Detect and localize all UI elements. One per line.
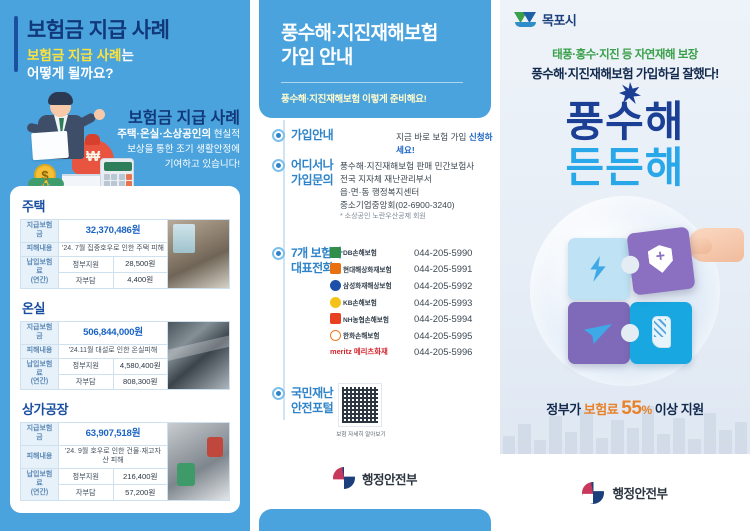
case-heading-shop-factory: 상가공장 (22, 399, 230, 418)
samsung-logo-icon (330, 280, 341, 291)
insurer-logo: 한화손해보험 (330, 330, 402, 341)
puzzle-piece-shield (626, 226, 695, 295)
label-premium: 납입보험료 (연간) (21, 256, 59, 288)
left-panel: 보험금 지급 사례 보험금 지급 사례는 어떻게 될까요? ₩ $ 보험금 지급 (0, 0, 250, 531)
payout-cases-card: 주택 지급보험금 32,370,486원 피해내용 '24. 7월 집중호우로 … (10, 186, 240, 513)
left-panel-desc-line-2: 보상을 통한 조기 생활안정에 (127, 141, 240, 155)
insurer-name: KB손해보험 (343, 297, 377, 307)
rain-boot-icon (652, 316, 671, 348)
puzzle-piece-boot (630, 302, 692, 364)
table-row: 지급보험금 32,370,486원 (21, 220, 168, 243)
nh-logo-icon (330, 313, 341, 324)
bullet-icon (272, 387, 285, 400)
list-item[interactable]: meritz 메리츠화재 044-205-5996 (330, 344, 472, 361)
insurer-name: NH농협손해보험 (343, 314, 389, 324)
label-premium-main: 납입보험료 (27, 471, 53, 487)
hanwha-logo-icon (330, 330, 341, 341)
value-gov-support: 216,400원 (113, 469, 168, 485)
case-block-greenhouse: 지급보험금 506,844,000원 피해내용 '24.11월 대설로 인한 온… (20, 321, 230, 391)
left-panel-title: 보험금 지급 사례 (27, 14, 169, 44)
kb-logo-icon (330, 297, 341, 308)
value-payout: 32,370,486원 (59, 220, 168, 243)
label-premium-sub: (연간) (31, 489, 49, 496)
title-line-1: 풍수해·지진재해보험 (281, 23, 438, 44)
hair (48, 92, 73, 105)
label-line-2: 안전포털 (291, 401, 333, 415)
label-line-1: 국민재난 (291, 386, 333, 400)
insurer-logo: KB손해보험 (330, 297, 402, 308)
middle-panel-header: 풍수해·지진재해보험 가입 안내 풍수해·지진재해보험 이렇게 준비해요! (259, 0, 491, 118)
hyundai-logo-icon (330, 263, 341, 274)
value-payout: 506,844,000원 (59, 321, 168, 344)
header-divider (281, 82, 463, 83)
insurer-name: DB손해보험 (343, 247, 377, 257)
value-gov-support: 28,500원 (113, 256, 168, 272)
value-damage: '24. 7월 집중호우로 인한 주택 피해 (59, 242, 168, 256)
list-item[interactable]: 현대해상화재보험 044-205-5991 (330, 261, 472, 278)
label-payout: 지급보험금 (21, 423, 59, 446)
insurer-name: meritz 메리츠화재 (330, 346, 388, 357)
label-line-2: 가입문의 (291, 173, 333, 187)
value-self-pay: 4,400원 (113, 272, 168, 288)
label-line-2: 대표전화 (291, 261, 333, 275)
qr-pattern (342, 387, 378, 423)
damage-photo-house (168, 219, 230, 289)
insurer-logo: 삼성화재해상보험 (330, 280, 402, 291)
mokpo-emblem-icon (514, 12, 537, 27)
label-gov-support: 정부지원 (59, 358, 114, 374)
table-row: 납입보험료 (연간) 정부지원 28,500원 (21, 256, 168, 272)
insurer-logo: 현대해상화재보험 (330, 263, 402, 274)
support-prefix: 정부가 (546, 402, 584, 417)
taegeuk-icon (333, 467, 355, 489)
insurer-logo: meritz 메리츠화재 (330, 346, 402, 357)
value-self-pay: 808,300원 (113, 374, 168, 390)
taegeuk-icon (582, 482, 604, 504)
insurer-logo: NH농협손해보험 (330, 313, 402, 324)
label-self-pay: 자부담 (59, 485, 114, 501)
value-self-pay: 57,200원 (113, 485, 168, 501)
label-premium-main: 납입보험료 (27, 259, 53, 275)
bullet-icon (272, 159, 285, 172)
insurer-phone[interactable]: 044-205-5996 (414, 346, 472, 357)
support-suffix: 이상 지원 (652, 402, 704, 417)
label-damage: 피해내용 (21, 446, 59, 469)
section-where-body: 풍수해·지진재해보험 판매 민간보험사 전국 지자체 재난관리부서 읍·면·동 … (340, 160, 500, 223)
label-damage: 피해내용 (21, 242, 59, 256)
table-row: 지급보험금 63,907,518원 (21, 423, 168, 446)
label-line-1: 어디서나 (291, 158, 333, 172)
support-premium-label: 보험료 (584, 402, 622, 417)
value-payout: 63,907,518원 (59, 423, 168, 446)
list-item[interactable]: 삼성화재해상보험 044-205-5992 (330, 277, 472, 294)
label-self-pay: 자부담 (59, 374, 114, 390)
value-damage: '24. 9월 호우로 인한 건물·재고자산 피해 (59, 446, 168, 469)
apply-note: * 소상공인 노란우산공제 회원 (340, 212, 500, 223)
won-symbol-icon: ₩ (86, 148, 100, 165)
label-premium-main: 납입보험료 (27, 361, 53, 377)
label-payout: 지급보험금 (21, 321, 59, 344)
section-signup-guide: 가입안내 (272, 128, 333, 143)
insurer-phone[interactable]: 044-205-5995 (414, 330, 472, 341)
damage-photo-shop-factory (168, 422, 230, 501)
case-block-shop-factory: 지급보험금 63,907,518원 피해내용 '24. 9월 호우로 인한 건물… (20, 422, 230, 501)
db-logo-icon (330, 247, 341, 258)
left-panel-subtitle-1: 보험금 지급 사례는 (27, 44, 134, 64)
subtitle-tail: 는 (121, 48, 133, 63)
table-row: 납입보험료 (연간) 정부지원 216,400원 (21, 469, 168, 485)
support-percent-sign: % (641, 403, 651, 417)
section-where-to-apply: 어디서나 가입문의 (272, 158, 333, 188)
title-accent-bar (14, 16, 18, 72)
list-item[interactable]: NH농협손해보험 044-205-5994 (330, 310, 472, 327)
label-gov-support: 정부지원 (59, 256, 114, 272)
list-item[interactable]: 한화손해보험 044-205-5995 (330, 327, 472, 344)
label-payout: 지급보험금 (21, 220, 59, 243)
city-logo: 목포시 (514, 10, 576, 29)
label-damage: 피해내용 (21, 344, 59, 358)
table-row: 지급보험금 506,844,000원 (21, 321, 168, 344)
insurer-list: DB손해보험 044-205-5990 현대해상화재보험 044-205-599… (330, 244, 472, 360)
table-row: 피해내용 '24.11월 대설로 인한 온실피해 (21, 344, 168, 358)
calculator-screen (104, 162, 132, 171)
table-row: 피해내용 '24. 9월 호우로 인한 건물·재고자산 피해 (21, 446, 168, 469)
table-row: 납입보험료 (연간) 정부지원 4,580,400원 (21, 358, 168, 374)
table-row: 피해내용 '24. 7월 집중호우로 인한 주택 피해 (21, 242, 168, 256)
paper-plane-icon (584, 324, 612, 344)
case-block-house: 지급보험금 32,370,486원 피해내용 '24. 7월 집중호우로 인한 … (20, 219, 230, 289)
case-table-house: 지급보험금 32,370,486원 피해내용 '24. 7월 집중호우로 인한 … (20, 219, 168, 289)
subtitle-highlight: 보험금 지급 사례 (27, 48, 121, 63)
bullet-icon (272, 247, 285, 260)
value-damage: '24.11월 대설로 인한 온실피해 (59, 344, 168, 358)
insurer-phone[interactable]: 044-205-5993 (414, 297, 472, 308)
label-premium: 납입보험료 (연간) (21, 358, 59, 390)
list-item[interactable]: DB손해보험 044-205-5990 (330, 244, 472, 261)
support-percent-value: 55 (621, 398, 641, 419)
qr-caption: 보험 자세히 알아보기 (322, 430, 400, 438)
right-headline-2: 풍수해·지진재해보험 가입하길 잘했다! (500, 63, 750, 82)
shield-plus-icon (647, 244, 674, 275)
label-premium-sub: (연간) (31, 277, 49, 284)
apply-line-2: 전국 지자체 재난관리부서 (340, 173, 500, 186)
section-signup-body: 지금 바로 보험 가입 신청하세요! (396, 131, 500, 157)
section-safety-portal: 국민재난 안전포털 (272, 386, 333, 416)
title-line-2: 가입 안내 (281, 47, 353, 68)
left-panel-desc-line-1: 주택·온실·소상공인의 현실적 (117, 126, 240, 141)
header-tagline: 풍수해·지진재해보험 이렇게 준비해요! (281, 91, 491, 105)
insurer-phone[interactable]: 044-205-5990 (414, 247, 472, 258)
section-label: 가입안내 (291, 128, 333, 143)
section-label: 어디서나 가입문의 (291, 158, 333, 188)
right-panel: 목포시 태풍·홍수·지진 등 자연재해 보장 풍수해·지진재해보험 가입하길 잘… (500, 0, 750, 531)
bullet-icon (272, 129, 285, 142)
businessman-illustration: ₩ $ (6, 88, 136, 200)
money-sack-neck (85, 134, 100, 145)
insurer-phone[interactable]: 044-205-5994 (414, 313, 472, 324)
left-panel-desc-line-3: 기여하고 있습니다! (165, 156, 240, 170)
puzzle-piece-lightning (568, 238, 630, 300)
insurer-name: 한화손해보험 (343, 330, 379, 340)
left-panel-right-title: 보험금 지급 사례 (128, 104, 240, 128)
document-sheet (31, 131, 69, 160)
desc-rest-part: 현실적 (211, 129, 240, 140)
insurer-phone[interactable]: 044-205-5991 (414, 263, 472, 274)
right-headline-1: 태풍·홍수·지진 등 자연재해 보장 (500, 46, 750, 62)
city-name: 목포시 (542, 10, 576, 29)
middle-panel: 풍수해·지진재해보험 가입 안내 풍수해·지진재해보험 이렇게 준비해요! 가입… (250, 0, 500, 531)
apply-line-1: 풍수해·지진재해보험 판매 민간보험사 (340, 160, 500, 173)
ministry-logo-right: 행정안전부 (500, 454, 750, 531)
hand-right (94, 109, 105, 120)
ministry-name: 행정안전부 (612, 483, 667, 502)
plant-leaf-right (47, 178, 64, 186)
insurer-name: 삼성화재해상보험 (343, 280, 392, 290)
label-gov-support: 정부지원 (59, 469, 114, 485)
left-panel-subtitle-2: 어떻게 될까요? (27, 62, 114, 82)
label-premium: 납입보험료 (연간) (21, 469, 59, 501)
ministry-name: 행정안전부 (362, 469, 417, 488)
bottom-blue-bar (259, 509, 491, 531)
value-gov-support: 4,580,400원 (113, 358, 168, 374)
government-support-text: 정부가 보험료 55% 이상 지원 (500, 398, 750, 420)
case-heading-greenhouse: 온실 (22, 298, 230, 317)
insurer-logo: DB손해보험 (330, 247, 402, 258)
insurer-name: 현대해상화재보험 (343, 264, 392, 274)
middle-panel-title: 풍수해·지진재해보험 가입 안내 (281, 22, 491, 71)
apply-line-4: 중소기업중앙회(02-6900-3240) (340, 199, 500, 212)
big-title-line-2: 든든해 (500, 134, 750, 195)
label-premium-sub: (연간) (31, 378, 49, 385)
body-plain: 지금 바로 보험 가입 (396, 132, 469, 142)
apply-line-3: 읍·면·동 행정복지센터 (340, 186, 500, 199)
case-table-shop-factory: 지급보험금 63,907,518원 피해내용 '24. 9월 호우로 인한 건물… (20, 422, 168, 501)
qr-code[interactable] (338, 383, 382, 427)
ministry-logo-middle: 행정안전부 (250, 467, 500, 489)
label-self-pay: 자부담 (59, 272, 114, 288)
desc-bold-part: 주택·온실·소상공인의 (117, 128, 211, 140)
case-heading-house: 주택 (22, 196, 230, 215)
section-label: 국민재난 안전포털 (291, 386, 333, 416)
insurer-phone[interactable]: 044-205-5992 (414, 280, 472, 291)
lightning-icon (586, 256, 610, 282)
case-table-greenhouse: 지급보험금 506,844,000원 피해내용 '24.11월 대설로 인한 온… (20, 321, 168, 391)
damage-photo-greenhouse (168, 321, 230, 391)
list-item[interactable]: KB손해보험 044-205-5993 (330, 294, 472, 311)
